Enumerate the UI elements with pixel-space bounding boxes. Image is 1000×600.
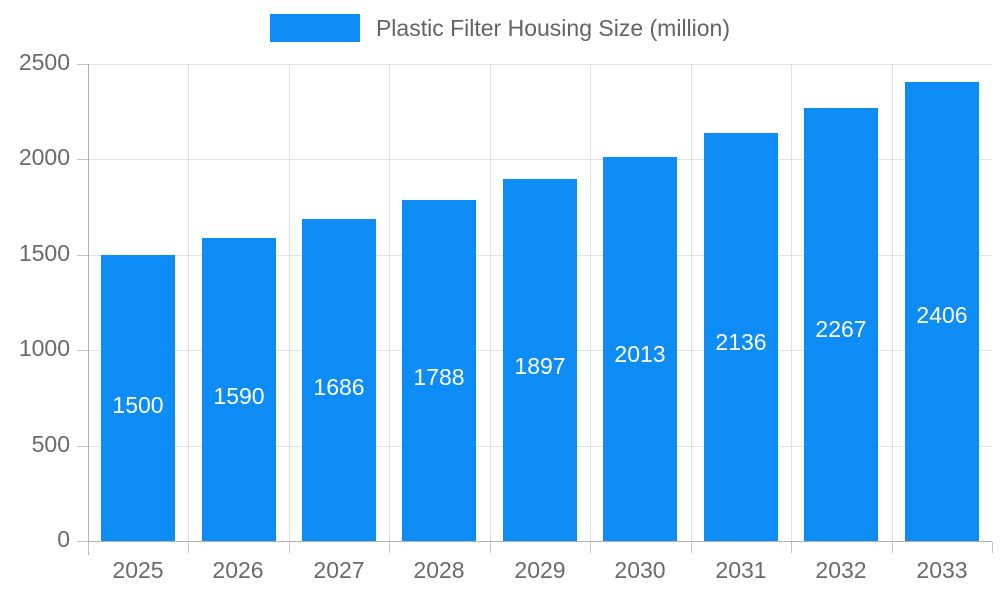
x-axis-tick-label: 2031 — [691, 557, 791, 584]
gridline-vertical — [892, 64, 893, 541]
y-axis-tick-label: 2500 — [0, 49, 70, 76]
x-axis-tick-mark — [590, 542, 591, 553]
x-axis-tick-mark — [691, 542, 692, 553]
y-axis-tick-mark — [77, 255, 88, 256]
x-axis-tick-label: 2027 — [289, 557, 389, 584]
y-axis-tick-mark — [77, 446, 88, 447]
plot-area: 150015901686178818972013213622672406 — [88, 64, 992, 541]
bar-value-label: 1500 — [101, 392, 175, 419]
bar-value-label: 2267 — [804, 316, 878, 343]
x-axis-tick-label: 2025 — [88, 557, 188, 584]
bar-value-label: 2406 — [905, 302, 979, 329]
x-axis-tick-mark — [992, 542, 993, 553]
gridline-vertical — [389, 64, 390, 541]
x-axis-tick-mark — [892, 542, 893, 553]
gridline-vertical — [188, 64, 189, 541]
y-axis-line — [88, 64, 89, 555]
x-axis-tick-mark — [289, 542, 290, 553]
x-axis-tick-mark — [389, 542, 390, 553]
x-axis-tick-label: 2030 — [590, 557, 690, 584]
y-axis-tick-label: 0 — [0, 526, 70, 553]
gridline-vertical — [490, 64, 491, 541]
legend-color-swatch[interactable] — [270, 14, 360, 42]
gridline-horizontal — [88, 64, 992, 65]
bar-value-label: 1788 — [402, 364, 476, 391]
x-axis-tick-label: 2028 — [389, 557, 489, 584]
gridline-vertical — [590, 64, 591, 541]
bar-value-label: 1897 — [503, 353, 577, 380]
y-axis-tick-mark — [77, 64, 88, 65]
x-axis-tick-label: 2029 — [490, 557, 590, 584]
x-axis-line — [88, 541, 992, 542]
bar-value-label: 2013 — [603, 341, 677, 368]
gridline-vertical — [289, 64, 290, 541]
x-axis-tick-mark — [490, 542, 491, 553]
bar-value-label: 1590 — [202, 383, 276, 410]
x-axis-tick-label: 2033 — [892, 557, 992, 584]
y-axis-tick-mark — [77, 159, 88, 160]
chart-legend: Plastic Filter Housing Size (million) — [0, 0, 1000, 56]
x-axis-tick-mark — [791, 542, 792, 553]
y-axis-tick-label: 1500 — [0, 240, 70, 267]
bar-chart: Plastic Filter Housing Size (million) 15… — [0, 0, 1000, 600]
gridline-vertical — [791, 64, 792, 541]
legend-label[interactable]: Plastic Filter Housing Size (million) — [376, 14, 730, 42]
y-axis-tick-mark — [77, 541, 88, 542]
y-axis-tick-label: 500 — [0, 431, 70, 458]
bar-value-label: 1686 — [302, 374, 376, 401]
y-axis-tick-label: 2000 — [0, 144, 70, 171]
x-axis-tick-mark — [88, 542, 89, 553]
y-axis-tick-mark — [77, 350, 88, 351]
gridline-vertical — [691, 64, 692, 541]
x-axis-tick-mark — [188, 542, 189, 553]
x-axis-tick-label: 2032 — [791, 557, 891, 584]
bar-value-label: 2136 — [704, 329, 778, 356]
y-axis-tick-label: 1000 — [0, 335, 70, 362]
x-axis-tick-label: 2026 — [188, 557, 288, 584]
